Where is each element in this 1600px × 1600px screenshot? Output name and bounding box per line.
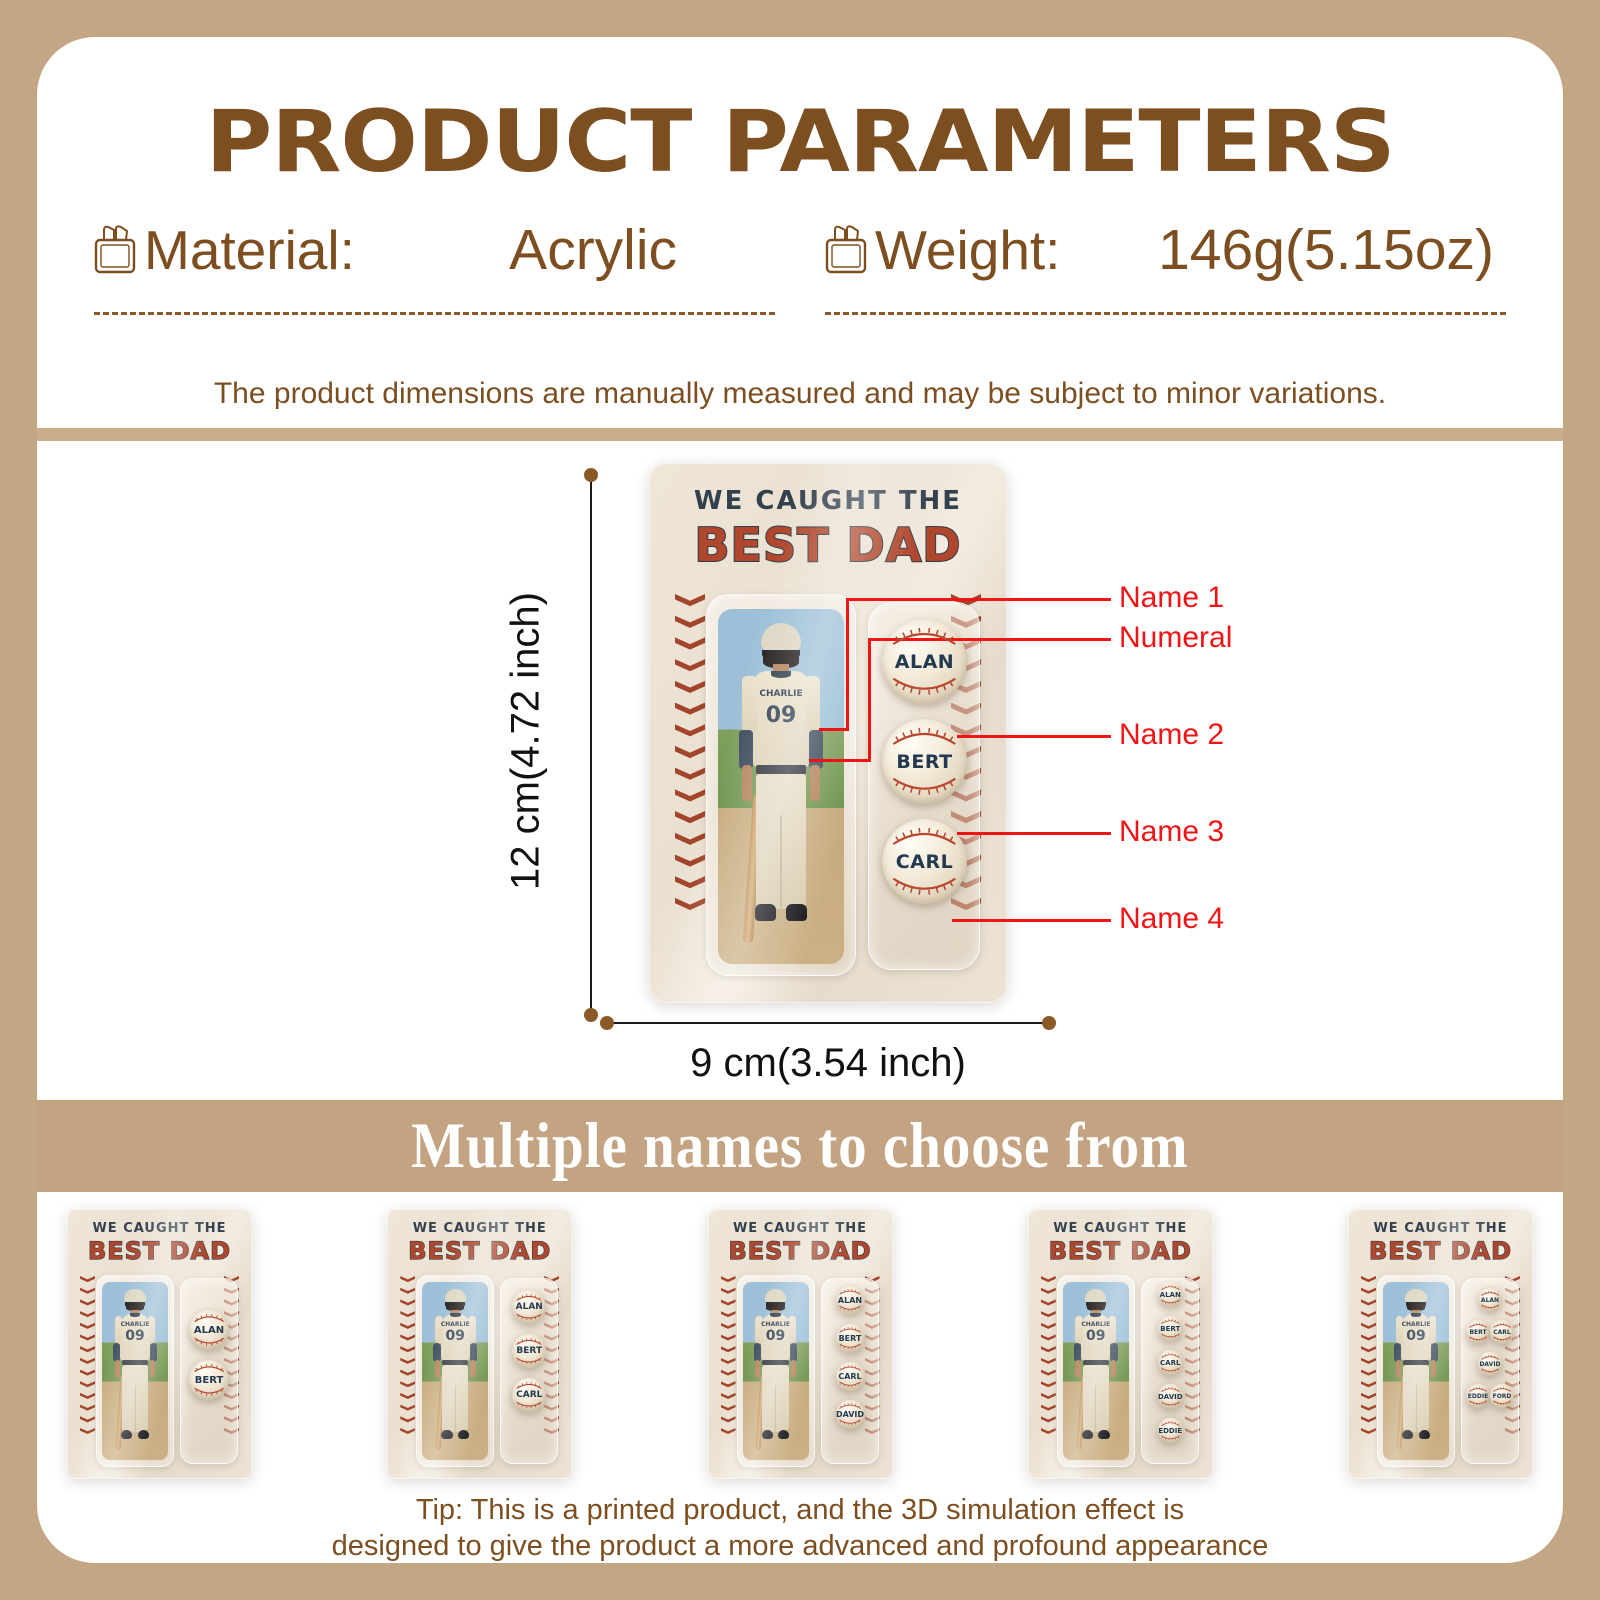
baseball-name: DAVID	[1479, 1361, 1500, 1368]
stitch-chevron	[721, 1323, 736, 1331]
stitch-chevron	[80, 1288, 95, 1296]
spec-material: Material: Acrylic	[92, 217, 777, 329]
baseball-item: ALAN	[882, 619, 967, 704]
baseball-item: ALAN	[836, 1286, 865, 1315]
stitch-chevron	[675, 746, 705, 762]
width-dimension-line	[607, 1022, 1049, 1024]
player-photo: CHARLIE 09	[743, 1282, 809, 1460]
stitch-chevron	[675, 833, 705, 849]
annotation-name-3: Name 3	[1119, 815, 1224, 849]
baseball-item: CARL	[882, 819, 967, 904]
headline-top: WE CAUGHT THE	[68, 1221, 251, 1236]
player-photo: CHARLIE 09	[102, 1282, 168, 1460]
baseball-name: BERT	[839, 1334, 862, 1343]
baseball-stitch-left-icon	[1361, 1276, 1376, 1436]
stitch-chevron	[1361, 1323, 1376, 1331]
baseball-name: CARL	[896, 851, 953, 873]
shopping-bag-icon	[92, 223, 138, 277]
jersey-name-text: CHARLIE	[102, 1321, 168, 1328]
baseball-name: BERT	[195, 1375, 224, 1386]
headline-main: BEST DAD	[1349, 1237, 1532, 1265]
stitch-chevron	[721, 1416, 736, 1424]
baseball-item: CARL	[1490, 1320, 1514, 1344]
stitch-chevron	[675, 854, 705, 870]
baseball-item: EDDIE	[1158, 1418, 1183, 1443]
product-headline: WE CAUGHT THE BEST DAD	[68, 1221, 251, 1265]
stitch-chevron	[80, 1311, 95, 1319]
baseball-item: ALAN	[189, 1310, 229, 1350]
baseball-item: CARL	[512, 1378, 546, 1412]
stitch-chevron	[721, 1405, 736, 1413]
baseball-item: CARL	[836, 1362, 865, 1391]
variant-thumbnail-2-names[interactable]: WE CAUGHT THE BEST DAD CHARLIE 09	[67, 1209, 252, 1479]
baseball-name: CARL	[1160, 1359, 1180, 1367]
stitch-chevron	[721, 1393, 736, 1401]
stitch-chevron	[1041, 1428, 1056, 1436]
headline-top: WE CAUGHT THE	[709, 1221, 892, 1236]
stitch-chevron	[1041, 1358, 1056, 1366]
stitch-chevron	[675, 811, 705, 827]
baseball-item: BERT	[1466, 1320, 1490, 1344]
height-dimension-label: 12 cm(4.72 inch)	[504, 592, 549, 890]
stitch-chevron	[1361, 1276, 1376, 1284]
stitch-chevron	[400, 1346, 415, 1354]
stitch-chevron	[1361, 1288, 1376, 1296]
baseball-name: BERT	[1469, 1329, 1486, 1336]
stitch-chevron	[675, 898, 705, 914]
shopping-bag-icon	[823, 223, 869, 277]
stitch-chevron	[80, 1346, 95, 1354]
headline-main: BEST DAD	[68, 1237, 251, 1265]
stitch-chevron	[400, 1311, 415, 1319]
dim-endpoint-dot	[600, 1016, 614, 1030]
stitch-chevron	[1041, 1299, 1056, 1307]
stitch-chevron	[721, 1288, 736, 1296]
stitch-chevron	[1041, 1311, 1056, 1319]
baseball-item: EDDIE	[1466, 1384, 1490, 1408]
jersey-name-text: CHARLIE	[1063, 1321, 1129, 1328]
product-headline: WE CAUGHT THE BEST DAD	[388, 1221, 571, 1265]
dim-endpoint-dot	[584, 468, 598, 482]
jersey-number-text: 09	[102, 1328, 168, 1344]
variants-banner: Multiple names to choose from	[37, 1100, 1563, 1192]
baseball-player-figure: CHARLIE 09	[422, 1282, 488, 1460]
headline-top: WE CAUGHT THE	[1349, 1221, 1532, 1236]
spec-weight-label: Weight:	[875, 218, 1060, 282]
player-photo: CHARLIE 09	[718, 609, 844, 964]
baseball-player-figure: CHARLIE 09	[718, 609, 844, 964]
parameters-section: PRODUCT PARAMETERS Material: Acrylic	[37, 37, 1563, 428]
baseball-item: DAVID	[1478, 1352, 1502, 1376]
measurement-note: The product dimensions are manually meas…	[37, 377, 1563, 411]
dim-endpoint-dot	[1042, 1016, 1056, 1030]
page-title: PRODUCT PARAMETERS	[37, 92, 1563, 192]
baseball-name: CARL	[838, 1372, 861, 1381]
stitch-chevron	[675, 789, 705, 805]
baseball-item: BERT	[1158, 1316, 1183, 1341]
annotation-name-4: Name 4	[1119, 902, 1224, 936]
jersey-name-text: CHARLIE	[1383, 1321, 1449, 1328]
product-parameters-page: PRODUCT PARAMETERS Material: Acrylic	[0, 0, 1600, 1600]
variant-thumbnail-list: WE CAUGHT THE BEST DAD CHARLIE 09	[67, 1209, 1533, 1479]
baseball-stitch-left-icon	[1041, 1276, 1056, 1436]
product-headline: WE CAUGHT THE BEST DAD	[709, 1221, 892, 1265]
stitch-chevron	[1361, 1334, 1376, 1342]
headline-top: WE CAUGHT THE	[1029, 1221, 1212, 1236]
baseball-name: CARL	[1493, 1329, 1511, 1336]
height-dimension-line	[590, 475, 592, 1015]
player-photo: CHARLIE 09	[1383, 1282, 1449, 1460]
banner-text: Multiple names to choose from	[411, 1109, 1189, 1184]
headline-main: BEST DAD	[709, 1237, 892, 1265]
stitch-chevron	[400, 1323, 415, 1331]
baseball-item: CARL	[1158, 1350, 1183, 1375]
baseball-name: DAVID	[1158, 1393, 1183, 1401]
stitch-chevron	[1041, 1276, 1056, 1284]
stitch-chevron	[1361, 1381, 1376, 1389]
stitch-chevron	[675, 876, 705, 892]
spec-weight-value: 146g(5.15oz)	[1158, 217, 1494, 283]
baseball-item: DAVID	[1158, 1384, 1183, 1409]
tip-line-1: Tip: This is a printed product, and the …	[416, 1494, 1184, 1526]
stitch-chevron	[675, 768, 705, 784]
baseball-player-figure: CHARLIE 09	[1383, 1282, 1449, 1460]
baseball-name: BERT	[896, 751, 952, 773]
baseball-name: ALAN	[1481, 1297, 1499, 1304]
stitch-chevron	[1041, 1393, 1056, 1401]
stitch-chevron	[400, 1288, 415, 1296]
stitch-chevron	[80, 1334, 95, 1342]
stitch-chevron	[1041, 1381, 1056, 1389]
stitch-chevron	[675, 616, 705, 632]
stitch-chevron	[1041, 1334, 1056, 1342]
jersey-name-text: CHARLIE	[718, 689, 844, 699]
stitch-chevron	[721, 1276, 736, 1284]
stitch-chevron	[1361, 1346, 1376, 1354]
stitch-chevron	[400, 1405, 415, 1413]
baseball-name: ALAN	[516, 1302, 543, 1312]
stitch-chevron	[80, 1299, 95, 1307]
variant-thumbnail-4-names[interactable]: WE CAUGHT THE BEST DAD CHARLIE 09	[708, 1209, 893, 1479]
stitch-chevron	[1361, 1428, 1376, 1436]
baseball-item: BERT	[189, 1360, 229, 1400]
stitch-chevron	[80, 1416, 95, 1424]
annotation-name-2: Name 2	[1119, 718, 1224, 752]
baseball-name: EDDIE	[1468, 1393, 1488, 1400]
stitch-chevron	[721, 1299, 736, 1307]
baseball-name: DAVID	[836, 1410, 864, 1419]
stitch-chevron	[1361, 1416, 1376, 1424]
variant-thumbnail-3-names[interactable]: WE CAUGHT THE BEST DAD CHARLIE 09	[387, 1209, 572, 1479]
baseball-stitch-left-icon	[400, 1276, 415, 1436]
stitch-chevron	[675, 637, 705, 653]
stitch-chevron	[1361, 1393, 1376, 1401]
stitch-chevron	[1361, 1370, 1376, 1378]
stitch-chevron	[721, 1370, 736, 1378]
headline-main: BEST DAD	[1029, 1237, 1212, 1265]
stitch-chevron	[400, 1428, 415, 1436]
headline-top: WE CAUGHT THE	[388, 1221, 571, 1236]
stitch-chevron	[400, 1276, 415, 1284]
player-photo: CHARLIE 09	[422, 1282, 488, 1460]
stitch-chevron	[675, 681, 705, 697]
stitch-chevron	[721, 1381, 736, 1389]
baseball-name: ALAN	[1160, 1291, 1181, 1299]
spec-material-label: Material:	[144, 218, 355, 282]
stitch-chevron	[721, 1334, 736, 1342]
baseball-item: ALAN	[512, 1290, 546, 1324]
jersey-name-text: CHARLIE	[422, 1321, 488, 1328]
jersey-number-text: 09	[1383, 1328, 1449, 1344]
tip-line-2: designed to give the product a more adva…	[332, 1530, 1269, 1562]
variant-thumbnail-6-names[interactable]: WE CAUGHT THE BEST DAD CHARLIE 09	[1348, 1209, 1533, 1479]
baseball-name: EDDIE	[1158, 1427, 1182, 1435]
baseball-item: BERT	[512, 1334, 546, 1368]
stitch-chevron	[721, 1346, 736, 1354]
stitch-chevron	[1041, 1346, 1056, 1354]
player-photo: CHARLIE 09	[1063, 1282, 1129, 1460]
stitch-chevron	[675, 703, 705, 719]
headline-top: WE CAUGHT THE	[650, 486, 1006, 516]
jersey-number-text: 09	[743, 1328, 809, 1344]
stitch-chevron	[1361, 1299, 1376, 1307]
baseball-name: FORD	[1493, 1393, 1512, 1400]
stitch-chevron	[1361, 1358, 1376, 1366]
stitch-chevron	[80, 1370, 95, 1378]
baseball-name: ALAN	[895, 651, 954, 673]
stitch-chevron	[80, 1358, 95, 1366]
baseball-name: ALAN	[194, 1325, 224, 1336]
stitch-chevron	[1041, 1370, 1056, 1378]
baseball-item: ALAN	[1158, 1282, 1183, 1307]
stitch-chevron	[80, 1405, 95, 1413]
baseball-stitch-left-icon	[721, 1276, 736, 1436]
stitch-chevron	[80, 1428, 95, 1436]
baseball-stitch-left-icon	[675, 594, 705, 914]
printing-tip: Tip: This is a printed product, and the …	[37, 1492, 1563, 1563]
baseball-item: FORD	[1490, 1384, 1514, 1408]
product-headline: WE CAUGHT THE BEST DAD	[1349, 1221, 1532, 1265]
stitch-chevron	[80, 1276, 95, 1284]
stitch-chevron	[1041, 1288, 1056, 1296]
stitch-chevron	[1361, 1405, 1376, 1413]
stitch-chevron	[675, 724, 705, 740]
baseball-name: BERT	[516, 1346, 542, 1356]
baseball-item: DAVID	[836, 1400, 865, 1429]
baseball-stitch-left-icon	[80, 1276, 95, 1436]
headline-main: BEST DAD	[650, 518, 1006, 572]
variant-thumbnail-5-names[interactable]: WE CAUGHT THE BEST DAD CHARLIE 09	[1028, 1209, 1213, 1479]
content-card: PRODUCT PARAMETERS Material: Acrylic	[37, 37, 1563, 1563]
spec-row: Material: Acrylic Weight: 146g(5.15oz)	[92, 217, 1508, 329]
product-image-main: WE CAUGHT THE BEST DAD	[649, 463, 1007, 1003]
stitch-chevron	[1041, 1416, 1056, 1424]
headline-main: BEST DAD	[388, 1237, 571, 1265]
baseball-item: ALAN	[1478, 1288, 1502, 1312]
stitch-chevron	[1041, 1323, 1056, 1331]
baseball-player-figure: CHARLIE 09	[1063, 1282, 1129, 1460]
stitch-chevron	[1041, 1405, 1056, 1413]
annotation-numeral: Numeral	[1119, 621, 1232, 655]
stitch-chevron	[80, 1393, 95, 1401]
stitch-chevron	[721, 1311, 736, 1319]
width-dimension-label: 9 cm(3.54 inch)	[690, 1041, 966, 1086]
stitch-chevron	[721, 1358, 736, 1366]
product-headline: WE CAUGHT THE BEST DAD	[650, 486, 1006, 572]
annotation-name-1: Name 1	[1119, 581, 1224, 615]
product-headline: WE CAUGHT THE BEST DAD	[1029, 1221, 1212, 1265]
jersey-name-text: CHARLIE	[743, 1321, 809, 1328]
stitch-chevron	[400, 1358, 415, 1366]
baseball-item: BERT	[882, 719, 967, 804]
stitch-chevron	[400, 1299, 415, 1307]
jersey-number-text: 09	[422, 1328, 488, 1344]
stitch-chevron	[1361, 1311, 1376, 1319]
spec-weight: Weight: 146g(5.15oz)	[823, 217, 1508, 329]
stitch-chevron	[721, 1428, 736, 1436]
dim-endpoint-dot	[584, 1008, 598, 1022]
spec-material-value: Acrylic	[509, 217, 677, 283]
stitch-chevron	[400, 1381, 415, 1389]
jersey-number-text: 09	[718, 703, 844, 728]
product-showcase-section: 12 cm(4.72 inch) 9 cm(3.54 inch) WE CAUG…	[37, 441, 1563, 1097]
section-divider	[37, 428, 1563, 441]
stitch-chevron	[675, 659, 705, 675]
jersey-number-text: 09	[1063, 1328, 1129, 1344]
stitch-chevron	[400, 1370, 415, 1378]
baseball-name: CARL	[516, 1390, 542, 1400]
baseball-name: BERT	[1160, 1325, 1180, 1333]
stitch-chevron	[80, 1323, 95, 1331]
baseball-player-figure: CHARLIE 09	[102, 1282, 168, 1460]
stitch-chevron	[400, 1416, 415, 1424]
stitch-chevron	[675, 594, 705, 610]
stitch-chevron	[400, 1393, 415, 1401]
baseball-item: BERT	[836, 1324, 865, 1353]
baseball-name: ALAN	[838, 1296, 862, 1305]
stitch-chevron	[400, 1334, 415, 1342]
stitch-chevron	[80, 1381, 95, 1389]
baseball-player-figure: CHARLIE 09	[743, 1282, 809, 1460]
